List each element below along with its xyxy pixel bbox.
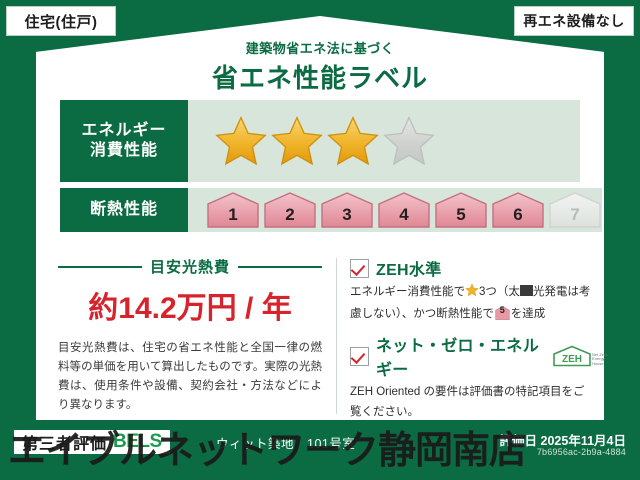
insulation-house-filled: 2 (263, 192, 317, 228)
insulation-level-value: 5 (456, 205, 465, 228)
insulation-house-empty: 7 (548, 192, 602, 228)
cost-value: 約14.2万円 / 年 (58, 283, 322, 327)
zeh-standard-title-row: ZEH水準 (350, 256, 592, 280)
zeh-logo-icon: ZEH Net Zero Energy House (552, 345, 592, 367)
row-energy-performance: エネルギー 消費性能 (60, 100, 580, 182)
evaluation-id: 7b6956ac-2b9a-4884 (537, 447, 626, 457)
insulation-level-value: 4 (399, 205, 408, 228)
star-filled-icon (326, 115, 380, 167)
insulation-house-filled: 4 (377, 192, 431, 228)
star-filled-icon (214, 115, 268, 167)
cost-note: 目安光熱費は、住宅の省エネ性能と全国一律の燃料等の単価を用いて算出したものです。… (58, 339, 322, 415)
net-zero-title-row: ネット・ゼロ・エネルギー ZEH Net Zero Energy House (350, 332, 592, 380)
energy-star-rating (188, 100, 580, 182)
redacted-character (520, 285, 533, 296)
badge-building-type: 住宅(住戸) (6, 6, 116, 36)
energy-label-root: 住宅(住戸) 再エネ設備なし 建築物省エネ法に基づく 省エネ性能ラベル エネルギ… (0, 0, 640, 480)
cost-heading-text: 目安光熱費 (150, 256, 230, 277)
insulation-house-filled: 3 (320, 192, 374, 228)
metric-rows: エネルギー 消費性能 断熱性能 1234567 (60, 100, 580, 238)
inline-house-level-icon: 5 (495, 306, 510, 320)
row-label-insulation: 断熱性能 (60, 188, 188, 232)
net-zero-title: ネット・ゼロ・エネルギー (376, 332, 543, 380)
zeh-standard-title: ZEH水準 (376, 256, 442, 280)
title-subtitle: 建築物省エネ法に基づく (0, 38, 640, 57)
row-insulation-performance: 断熱性能 1234567 (60, 188, 580, 232)
insulation-level-value: 1 (228, 205, 237, 228)
zeh-body-prefix: エネルギー消費性能で (350, 286, 465, 298)
checkmark-icon (350, 347, 369, 366)
cost-heading: 目安光熱費 (58, 256, 322, 277)
insulation-house-filled: 5 (434, 192, 488, 228)
insulation-level-scale: 1234567 (188, 188, 602, 232)
insulation-level-value: 7 (570, 205, 579, 228)
insulation-level-value: 2 (285, 205, 294, 228)
watermark-text: エイブルネットワーク静岡南店 (8, 419, 526, 474)
star-empty-icon (382, 115, 436, 167)
insulation-level-value: 6 (513, 205, 522, 228)
cost-rule-right (238, 266, 322, 268)
energy-label-line2: 消費性能 (90, 142, 158, 159)
insulation-house-filled: 6 (491, 192, 545, 228)
checks-panel: ZEH水準 エネルギー消費性能で3つ（太光発電は考慮しない）、かつ断熱性能で5を… (336, 250, 604, 420)
check-net-zero-energy: ネット・ゼロ・エネルギー ZEH Net Zero Energy House Z… (350, 332, 592, 422)
star-filled-icon (270, 115, 324, 167)
svg-text:ZEH: ZEH (562, 354, 582, 365)
cost-panel: 目安光熱費 約14.2万円 / 年 目安光熱費は、住宅の省エネ性能と全国一律の燃… (36, 250, 336, 420)
checkmark-icon (350, 259, 369, 278)
zeh-standard-body: エネルギー消費性能で3つ（太光発電は考慮しない）、かつ断熱性能で5を達成 (350, 283, 592, 324)
zeh-body-suffix: を達成 (511, 308, 546, 320)
insulation-level-value: 3 (342, 205, 351, 228)
zeh-logo-sublabel: Net Zero Energy House (592, 353, 608, 366)
energy-label-line1: エネルギー (81, 122, 166, 139)
title-main: 省エネ性能ラベル (0, 58, 640, 95)
row-label-energy: エネルギー 消費性能 (60, 100, 188, 182)
label-title: 建築物省エネ法に基づく 省エネ性能ラベル (0, 38, 640, 95)
inline-house-level-value: 5 (495, 306, 510, 320)
zeh-body-mid: 3つ（太 (479, 286, 520, 298)
badge-renewable-equipment: 再エネ設備なし (514, 6, 634, 36)
net-zero-body: ZEH Oriented の要件は評価書の特記項目をご覧ください。 (350, 383, 592, 422)
check-zeh-standard: ZEH水準 エネルギー消費性能で3つ（太光発電は考慮しない）、かつ断熱性能で5を… (350, 256, 592, 324)
insulation-house-filled: 1 (206, 192, 260, 228)
inline-star-icon (465, 283, 479, 305)
lower-content: 目安光熱費 約14.2万円 / 年 目安光熱費は、住宅の省エネ性能と全国一律の燃… (36, 250, 604, 420)
cost-rule-left (58, 266, 142, 268)
